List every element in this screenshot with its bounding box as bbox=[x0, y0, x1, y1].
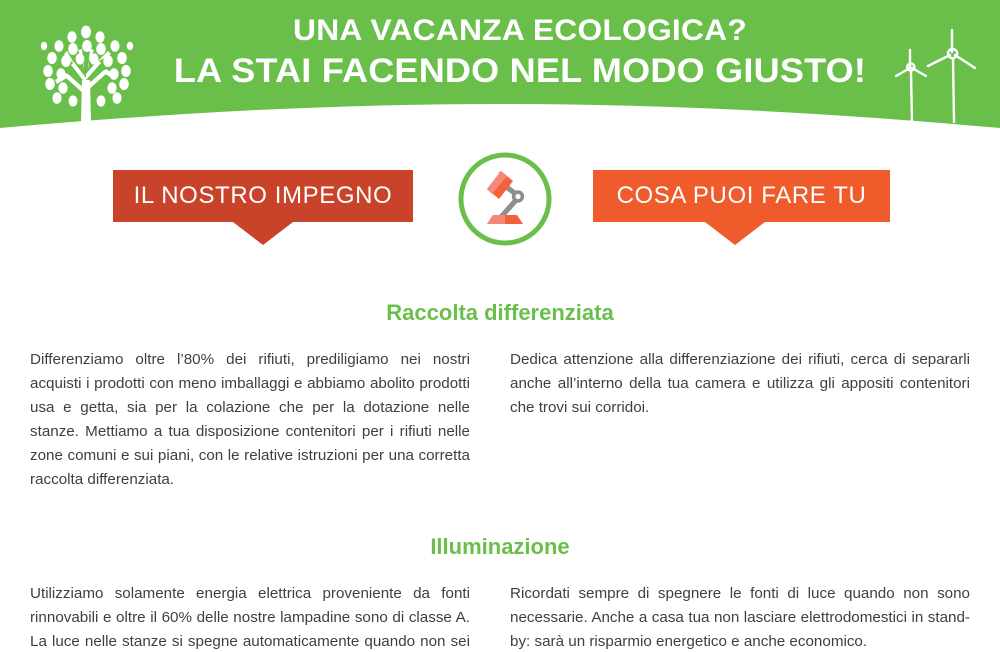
header-title-block: UNA VACANZA ECOLOGICA? LA STAI FACENDO N… bbox=[180, 16, 860, 88]
section-title-raccolta: Raccolta differenziata bbox=[0, 300, 1000, 326]
desk-lamp-icon bbox=[457, 151, 553, 247]
section-title-illuminazione: Illuminazione bbox=[0, 534, 1000, 560]
content-sections: Raccolta differenziata Differenziamo olt… bbox=[0, 300, 1000, 652]
page-title-line-1: UNA VACANZA ECOLOGICA? bbox=[160, 16, 881, 46]
banner-il-nostro-impegno[interactable]: IL NOSTRO IMPEGNO bbox=[113, 170, 413, 222]
section-raccolta-right-column: Dedica attenzione alla differenziazione … bbox=[500, 348, 1000, 492]
section-illuminazione-columns: Utilizziamo solamente energia elettrica … bbox=[0, 582, 1000, 652]
banner-right-label: COSA PUOI FARE TU bbox=[617, 182, 867, 210]
banner-right-box: COSA PUOI FARE TU bbox=[593, 170, 890, 222]
banner-right-tail bbox=[705, 222, 765, 245]
section-raccolta-left-column: Differenziamo oltre l’80% dei rifiuti, p… bbox=[0, 348, 500, 492]
section-raccolta-columns: Differenziamo oltre l’80% dei rifiuti, p… bbox=[0, 348, 1000, 492]
banner-left-label: IL NOSTRO IMPEGNO bbox=[134, 182, 393, 210]
banner-left-box: IL NOSTRO IMPEGNO bbox=[113, 170, 413, 222]
section-illuminazione-left-text: Utilizziamo solamente energia elettrica … bbox=[30, 582, 470, 652]
section-raccolta-left-text: Differenziamo oltre l’80% dei rifiuti, p… bbox=[30, 348, 470, 492]
section-illuminazione-left-column: Utilizziamo solamente energia elettrica … bbox=[0, 582, 500, 652]
wind-turbines-icon bbox=[876, 18, 988, 130]
page-header: UNA VACANZA ECOLOGICA? LA STAI FACENDO N… bbox=[0, 0, 1000, 140]
tree-icon bbox=[28, 18, 144, 130]
section-raccolta-differenziata: Raccolta differenziata Differenziamo olt… bbox=[0, 300, 1000, 492]
section-illuminazione-right-column: Ricordati sempre di spegnere le fonti di… bbox=[500, 582, 1000, 652]
page-title-line-2: LA STAI FACENDO NEL MODO GIUSTO! bbox=[160, 54, 881, 88]
infographic-page: UNA VACANZA ECOLOGICA? LA STAI FACENDO N… bbox=[0, 0, 1000, 652]
section-illuminazione-right-text: Ricordati sempre di spegnere le fonti di… bbox=[510, 582, 970, 652]
banner-cosa-puoi-fare-tu[interactable]: COSA PUOI FARE TU bbox=[593, 170, 890, 222]
section-illuminazione: Illuminazione Utilizziamo solamente ener… bbox=[0, 534, 1000, 652]
banner-left-tail bbox=[233, 222, 293, 245]
section-raccolta-right-text: Dedica attenzione alla differenziazione … bbox=[510, 348, 970, 420]
